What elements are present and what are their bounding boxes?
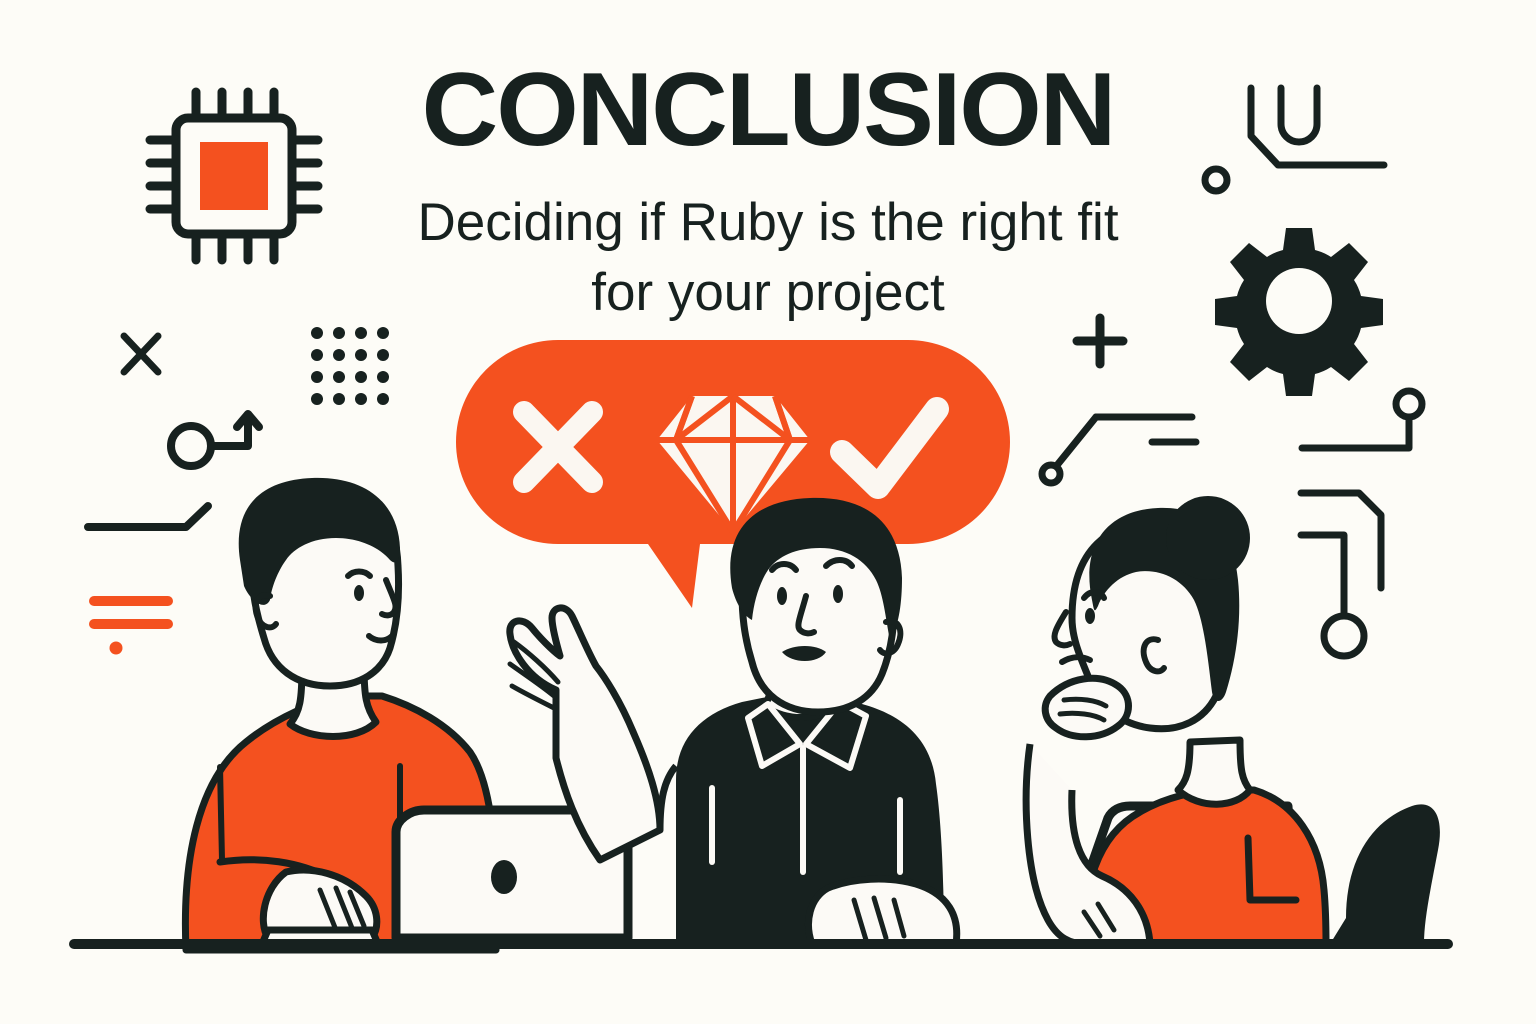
- illustration-artwork: [0, 0, 1536, 1024]
- illustration-canvas: CONCLUSION Deciding if Ruby is the right…: [0, 0, 1536, 1024]
- laptop-logo-dot: [491, 860, 517, 894]
- orange-dot-icon: [110, 642, 123, 655]
- gear-icon: [1215, 228, 1383, 396]
